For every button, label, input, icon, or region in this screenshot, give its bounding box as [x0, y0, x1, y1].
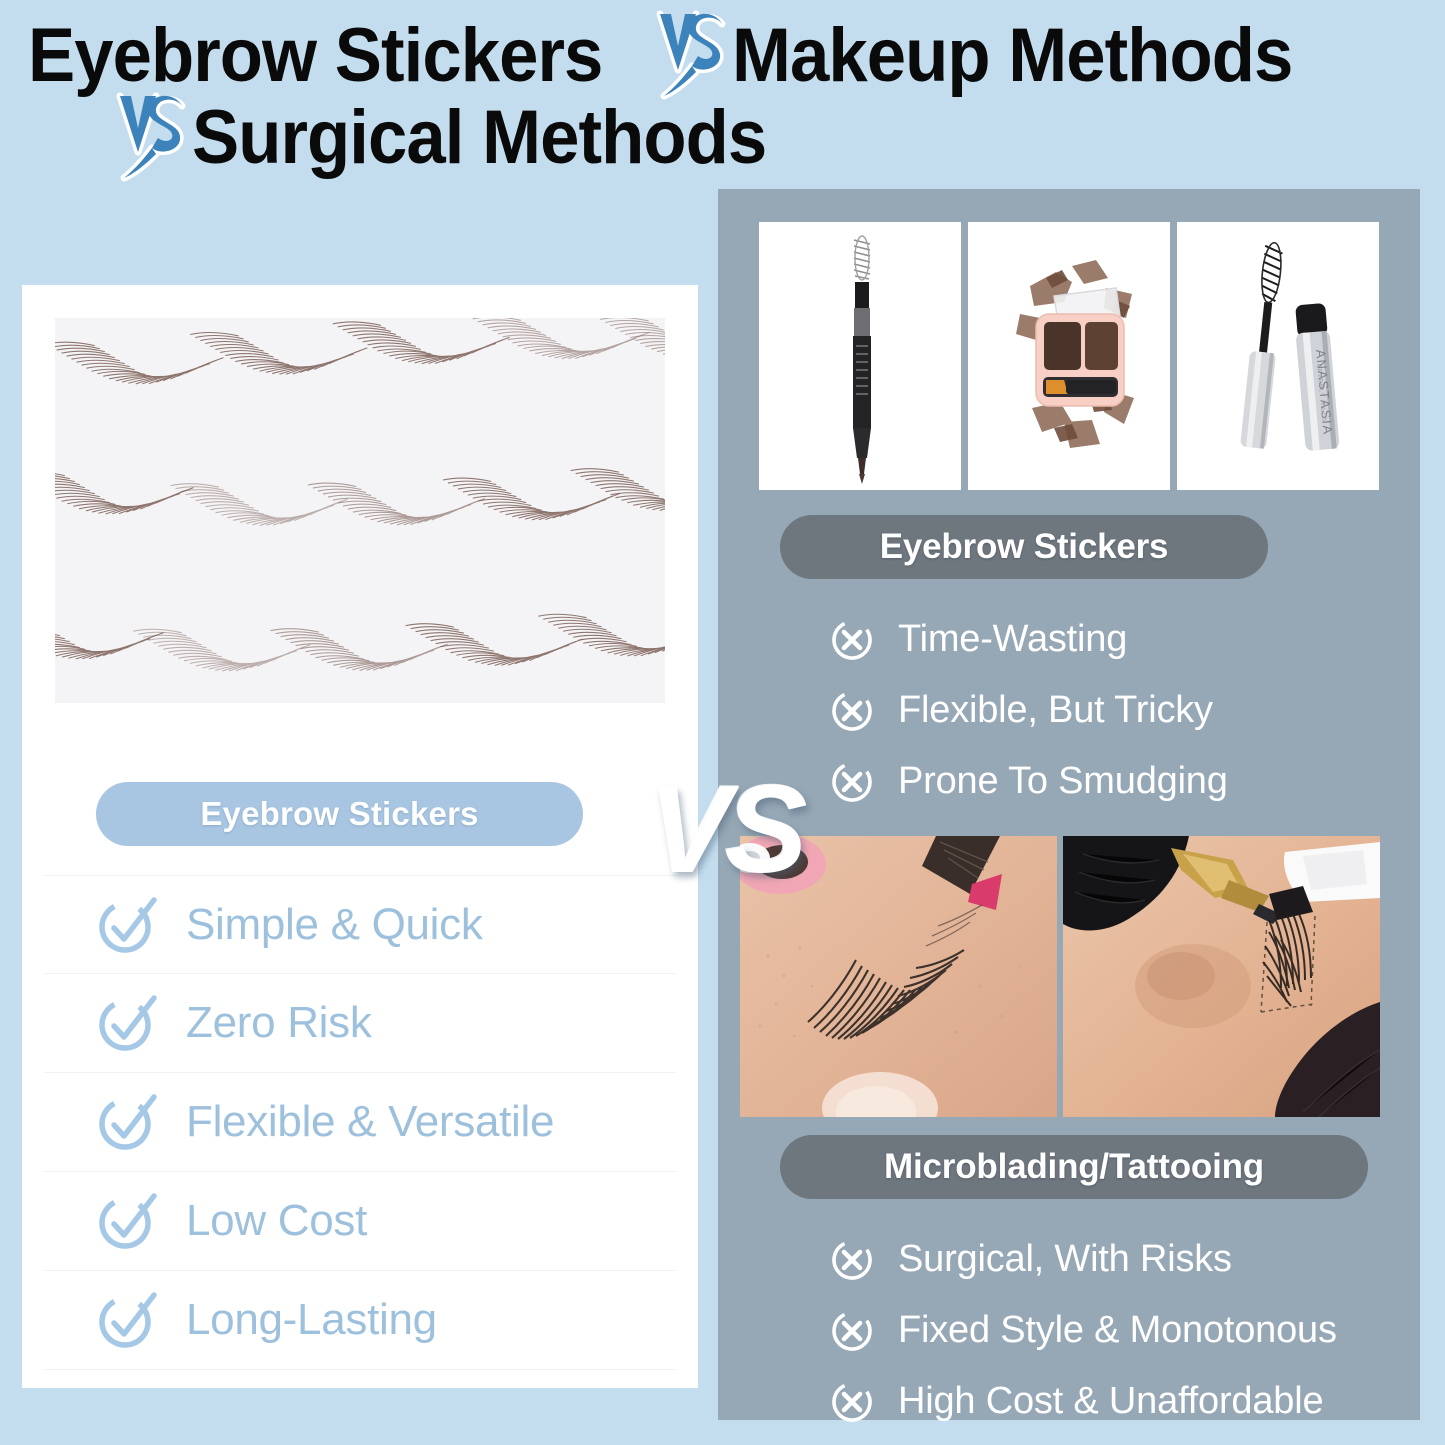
x-circle-icon	[828, 1378, 876, 1426]
list-item[interactable]: Time-Wasting	[828, 604, 1228, 675]
list-item[interactable]: High Cost & Unaffordable	[828, 1366, 1337, 1437]
x-circle-icon	[828, 1236, 876, 1284]
title-line-2: Surgical Methods	[112, 90, 1424, 186]
page-title: Eyebrow Stickers Makeup Methods	[24, 8, 1424, 186]
list-item-label: Prone To Smudging	[898, 760, 1228, 803]
eyebrow-sticker-sheet-photo	[55, 318, 665, 703]
list-item[interactable]: Surgical, With Risks	[828, 1224, 1337, 1295]
infographic-canvas: Eyebrow Stickers Makeup Methods	[0, 0, 1445, 1445]
list-item[interactable]: Fixed Style & Monotonous	[828, 1295, 1337, 1366]
cons-badge-eyebrow-stickers: Eyebrow Stickers	[780, 515, 1268, 579]
list-item[interactable]: Low Cost	[44, 1172, 676, 1271]
check-circle-icon	[96, 894, 162, 956]
cons-badge-microblading: Microblading/Tattooing	[780, 1135, 1368, 1199]
brow-pencil-photo	[759, 222, 961, 490]
cons-list-microblading: Surgical, With Risks Fixed Style & Monot…	[828, 1224, 1337, 1437]
list-item-label: Low Cost	[186, 1196, 367, 1246]
pros-card: Eyebrow Stickers Simple & Quick	[22, 285, 698, 1388]
list-item[interactable]: Long-Lasting	[44, 1271, 676, 1370]
x-circle-icon	[828, 758, 876, 806]
pros-list: Simple & Quick Zero Risk	[44, 875, 676, 1370]
check-circle-icon	[96, 1190, 162, 1252]
tattooing-procedure-photo-right	[1063, 836, 1380, 1117]
check-circle-icon	[96, 992, 162, 1054]
cons-badge-label: Microblading/Tattooing	[884, 1147, 1264, 1187]
list-item-label: Zero Risk	[186, 998, 372, 1048]
list-item-label: Time-Wasting	[898, 618, 1127, 661]
check-circle-icon	[96, 1091, 162, 1153]
title-segment-eyebrow-stickers: Eyebrow Stickers	[28, 15, 602, 97]
list-item[interactable]: Simple & Quick	[44, 875, 676, 974]
vs-logo-icon-2	[112, 90, 190, 186]
list-item[interactable]: Zero Risk	[44, 974, 676, 1073]
pros-badge-label: Eyebrow Stickers	[200, 795, 478, 833]
cons-list-makeup: Time-Wasting Flexible, But Tricky	[828, 604, 1228, 817]
makeup-products-photo-strip: ANASTASIA BEVERLY HILLS	[759, 222, 1379, 490]
list-item[interactable]: Flexible & Versatile	[44, 1073, 676, 1172]
vs-logo-icon	[652, 8, 730, 104]
list-item[interactable]: Prone To Smudging	[828, 746, 1228, 817]
list-item-label: Surgical, With Risks	[898, 1238, 1232, 1281]
list-item-label: Flexible, But Tricky	[898, 689, 1213, 732]
title-segment-surgical-methods: Surgical Methods	[192, 97, 766, 179]
cons-badge-label: Eyebrow Stickers	[880, 527, 1169, 567]
pros-badge: Eyebrow Stickers	[96, 782, 583, 846]
list-item[interactable]: Flexible, But Tricky	[828, 675, 1228, 746]
list-item-label: Long-Lasting	[186, 1295, 437, 1345]
x-circle-icon	[828, 616, 876, 664]
title-segment-makeup-methods: Makeup Methods	[732, 15, 1292, 97]
title-line-1: Eyebrow Stickers Makeup Methods	[28, 8, 1424, 104]
brow-gel-tube-photo: ANASTASIA BEVERLY HILLS	[1177, 222, 1379, 490]
x-circle-icon	[828, 687, 876, 735]
microblading-photo-strip	[740, 836, 1380, 1117]
cons-panel: ANASTASIA BEVERLY HILLS Eyebrow Stickers	[718, 189, 1420, 1420]
list-item-label: Flexible & Versatile	[186, 1097, 554, 1147]
check-circle-icon	[96, 1289, 162, 1351]
list-item-label: Fixed Style & Monotonous	[898, 1309, 1337, 1352]
brow-powder-palette-photo	[968, 222, 1170, 490]
x-circle-icon	[828, 1307, 876, 1355]
vs-divider-label: VS	[648, 768, 801, 892]
list-item-label: High Cost & Unaffordable	[898, 1380, 1323, 1423]
list-item-label: Simple & Quick	[186, 900, 483, 950]
